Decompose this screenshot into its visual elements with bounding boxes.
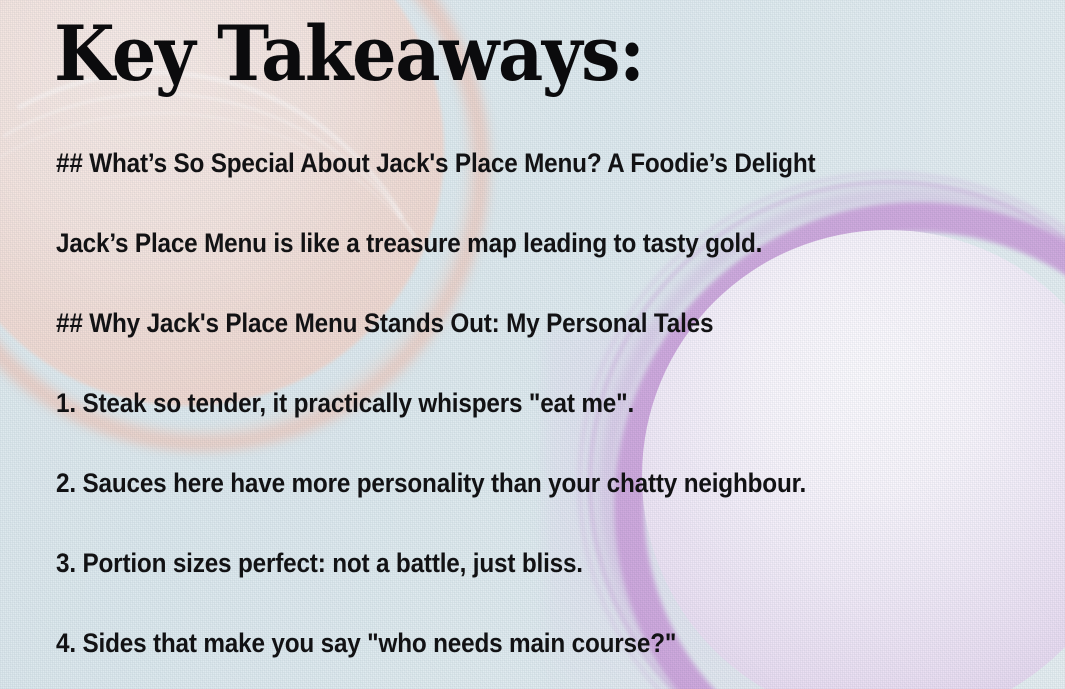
- content-layer: Key Takeaways: ## What’s So Special Abou…: [0, 0, 1065, 689]
- takeaway-list-item-1: 1. Steak so tender, it practically whisp…: [56, 390, 938, 470]
- takeaway-list-item-3: 3. Portion sizes perfect: not a battle, …: [56, 550, 938, 630]
- takeaway-heading-2: ## Why Jack's Place Menu Stands Out: My …: [56, 310, 938, 390]
- takeaway-list-item-2: 2. Sauces here have more personality tha…: [56, 470, 938, 550]
- takeaway-list-item-4: 4. Sides that make you say "who needs ma…: [56, 630, 938, 689]
- page-title: Key Takeaways:: [54, 14, 644, 94]
- takeaway-heading-1: ## What’s So Special About Jack's Place …: [56, 150, 938, 230]
- slide-canvas: Key Takeaways: ## What’s So Special Abou…: [0, 0, 1065, 689]
- takeaways-list: ## What’s So Special About Jack's Place …: [56, 150, 1036, 689]
- takeaway-paragraph-1: Jack’s Place Menu is like a treasure map…: [56, 230, 938, 310]
